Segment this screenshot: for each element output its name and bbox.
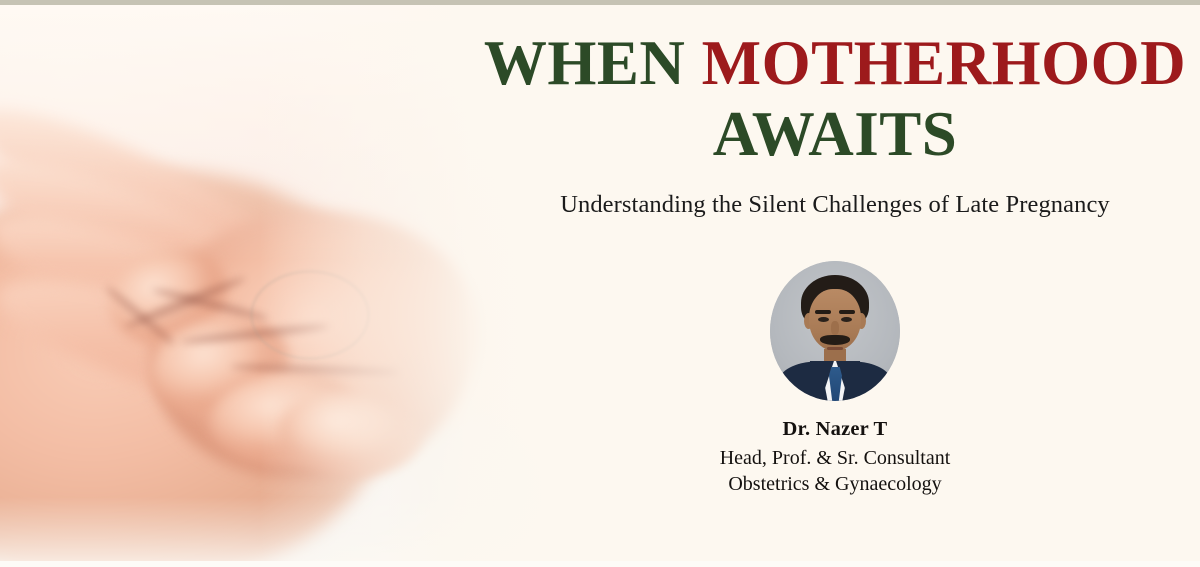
- headshot-moustache: [820, 335, 850, 345]
- content-column: WHEN MOTHERHOOD AWAITS Understanding the…: [470, 0, 1200, 567]
- avatar: [770, 261, 900, 401]
- bottom-edge-strip: [0, 561, 1200, 567]
- headline-when: WHEN: [484, 28, 702, 98]
- poster-banner: WHEN MOTHERHOOD AWAITS Understanding the…: [0, 0, 1200, 567]
- top-edge-strip: [0, 0, 1200, 5]
- headline-motherhood: MOTHERHOOD: [702, 28, 1187, 98]
- headshot-mouth: [827, 347, 843, 350]
- headline-line-2: AWAITS: [470, 101, 1200, 168]
- headline-line-1: WHEN MOTHERHOOD: [470, 30, 1200, 97]
- avatar-container: [470, 261, 1200, 401]
- headshot-eyebrow-left: [815, 310, 831, 314]
- subtitle: Understanding the Silent Challenges of L…: [470, 191, 1200, 219]
- headshot-nose: [831, 321, 839, 335]
- headshot-eye-left: [818, 317, 829, 322]
- speaker-role-line-2: Obstetrics & Gynaecology: [470, 471, 1200, 498]
- headshot-eye-right: [841, 317, 852, 322]
- speaker-name: Dr. Nazer T: [470, 418, 1200, 441]
- headshot-eyebrow-right: [839, 310, 855, 314]
- speaker-role-line-1: Head, Prof. & Sr. Consultant: [470, 445, 1200, 472]
